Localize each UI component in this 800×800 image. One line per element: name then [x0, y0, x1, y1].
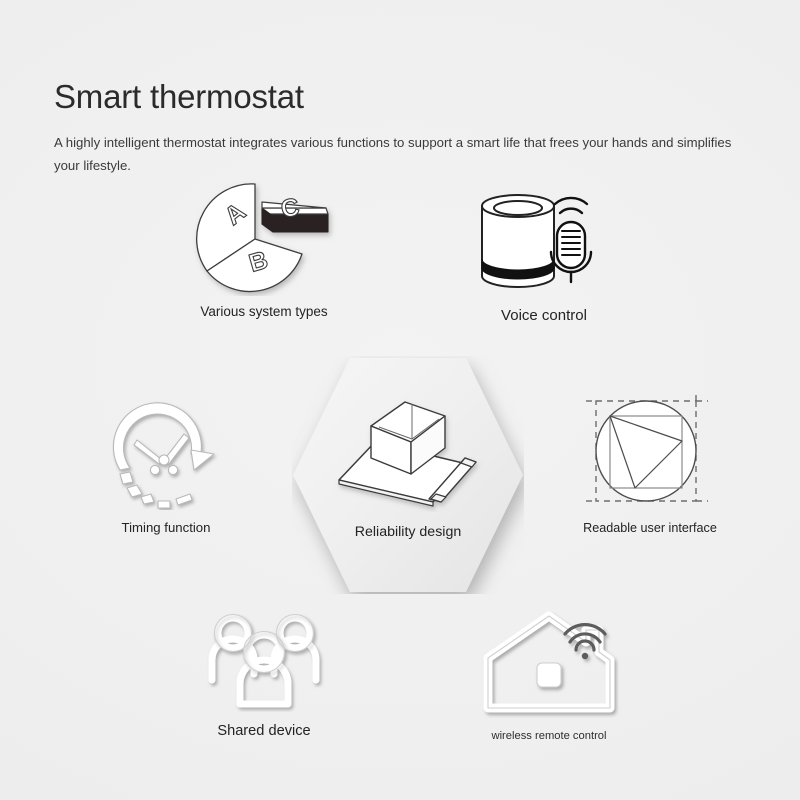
house-wifi-icon	[466, 608, 632, 718]
page-title: Smart thermostat	[54, 77, 304, 117]
feature-label-readable-user-interface: Readable user interface	[583, 521, 717, 535]
feature-timing-function[interactable]: Timing function	[96, 398, 236, 535]
page-subtitle: A highly intelligent thermostat integrat…	[54, 132, 744, 177]
feature-shared-device[interactable]: Shared device	[196, 608, 332, 739]
feature-label-shared-device: Shared device	[217, 723, 310, 739]
clock-arrow-icon	[96, 398, 236, 510]
feature-label-various-system-types: Various system types	[200, 304, 327, 319]
feature-various-system-types[interactable]: A B C Various system types	[176, 178, 352, 319]
feature-label-voice-control: Voice control	[501, 307, 587, 324]
feature-wireless-remote-control[interactable]: wireless remote control	[466, 608, 632, 742]
isometric-device-box-icon	[315, 394, 501, 512]
infographic-page: Smart thermostat A highly intelligent th…	[0, 0, 800, 800]
feature-reliability-design[interactable]: Reliability design	[292, 356, 524, 594]
people-group-icon	[196, 608, 332, 712]
smart-speaker-microphone-icon	[456, 180, 632, 298]
feature-voice-control[interactable]: Voice control	[456, 180, 632, 324]
feature-label-reliability-design: Reliability design	[355, 524, 461, 540]
feature-label-timing-function: Timing function	[122, 520, 211, 535]
circle-square-triangle-icon	[572, 393, 728, 511]
feature-readable-user-interface[interactable]: Readable user interface	[572, 393, 728, 535]
feature-label-wireless-remote-control: wireless remote control	[491, 730, 606, 742]
pie-chart-icon: A B C	[176, 178, 352, 296]
